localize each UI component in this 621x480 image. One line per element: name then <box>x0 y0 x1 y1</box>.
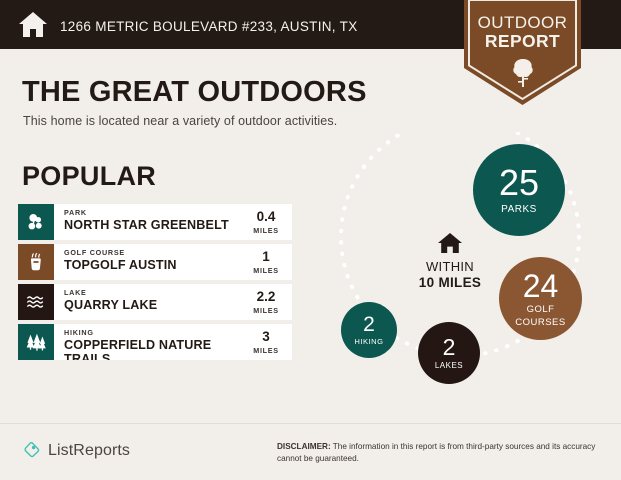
badge-line-1: OUTDOOR <box>464 14 581 32</box>
listreports-logo[interactable]: ListReports <box>22 441 130 460</box>
badge-title: OUTDOOR REPORT <box>464 14 581 50</box>
golf-courses-count: 24 <box>523 270 559 302</box>
outdoor-report-badge: OUTDOOR REPORT <box>464 0 581 105</box>
popular-heading: POPULAR <box>22 161 156 192</box>
list-item[interactable]: HIKING COPPERFIELD NATURE TRAILS 3 MILES <box>18 324 292 360</box>
distance-value: 2.2 <box>240 290 292 304</box>
popular-list: PARK NORTH STAR GREENBELT 0.4 MILES GOLF… <box>18 204 292 364</box>
list-item-category: PARK <box>64 209 240 216</box>
list-item-name: COPPERFIELD NATURE TRAILS <box>64 338 240 360</box>
list-item-distance: 1 MILES <box>240 244 292 280</box>
hiking-count: 2 <box>363 314 375 335</box>
list-item-name: NORTH STAR GREENBELT <box>64 218 240 232</box>
center-line-2: 10 MILES <box>390 275 510 291</box>
list-item-category: HIKING <box>64 329 240 336</box>
pine-trees-icon <box>18 324 54 360</box>
distance-value: 0.4 <box>240 210 292 224</box>
listreports-wordmark: ListReports <box>48 442 130 460</box>
parks-count: 25 <box>499 165 539 201</box>
distance-unit: MILES <box>240 226 292 235</box>
page-subtitle: This home is located near a variety of o… <box>23 114 337 128</box>
outdoor-report-page: 1266 METRIC BOULEVARD #233, AUSTIN, TX O… <box>0 0 621 480</box>
list-item-category: GOLF COURSE <box>64 249 240 256</box>
page-title: THE GREAT OUTDOORS <box>22 76 367 109</box>
lakes-label: LAKES <box>435 362 463 370</box>
tree-icon <box>512 58 534 88</box>
list-item-text: PARK NORTH STAR GREENBELT <box>54 204 240 240</box>
golf-courses-label-line-2: COURSES <box>515 318 565 328</box>
list-item-distance: 2.2 MILES <box>240 284 292 320</box>
list-item-name: QUARRY LAKE <box>64 298 240 312</box>
stat-circle-hiking[interactable]: 2 HIKING <box>341 302 397 358</box>
list-item-name: TOPGOLF AUSTIN <box>64 258 240 272</box>
distance-unit: MILES <box>240 306 292 315</box>
within-10-miles-diagram: WITHIN 10 MILES 25 PARKS 24 GOLF COURSES… <box>320 132 600 402</box>
parks-label: PARKS <box>501 205 537 216</box>
list-item-text: HIKING COPPERFIELD NATURE TRAILS <box>54 324 240 360</box>
list-item[interactable]: PARK NORTH STAR GREENBELT 0.4 MILES <box>18 204 292 240</box>
distance-value: 1 <box>240 250 292 264</box>
list-item-distance: 0.4 MILES <box>240 204 292 240</box>
list-item-text: LAKE QUARRY LAKE <box>54 284 240 320</box>
disclaimer: DISCLAIMER: The information in this repo… <box>277 441 605 465</box>
listreports-tag-icon <box>22 441 41 460</box>
golf-bag-icon <box>18 244 54 280</box>
water-waves-icon <box>18 284 54 320</box>
distance-value: 3 <box>240 330 292 344</box>
property-address: 1266 METRIC BOULEVARD #233, AUSTIN, TX <box>60 19 358 34</box>
home-icon <box>437 232 463 254</box>
stat-circle-lakes[interactable]: 2 LAKES <box>418 322 480 384</box>
badge-line-2: REPORT <box>464 32 581 50</box>
list-item-text: GOLF COURSE TOPGOLF AUSTIN <box>54 244 240 280</box>
park-bushes-icon <box>18 204 54 240</box>
footer-divider <box>0 423 621 424</box>
hiking-label: HIKING <box>354 338 383 346</box>
distance-unit: MILES <box>240 346 292 355</box>
distance-unit: MILES <box>240 266 292 275</box>
stat-circle-parks[interactable]: 25 PARKS <box>473 144 565 236</box>
list-item[interactable]: GOLF COURSE TOPGOLF AUSTIN 1 MILES <box>18 244 292 280</box>
list-item[interactable]: LAKE QUARRY LAKE 2.2 MILES <box>18 284 292 320</box>
home-icon <box>18 11 48 38</box>
list-item-distance: 3 MILES <box>240 324 292 360</box>
disclaimer-label: DISCLAIMER: <box>277 442 331 451</box>
golf-courses-label-line-1: GOLF <box>527 305 555 315</box>
lakes-count: 2 <box>443 336 456 359</box>
list-item-category: LAKE <box>64 289 240 296</box>
center-line-1: WITHIN <box>390 260 510 275</box>
stat-circle-golf-courses[interactable]: 24 GOLF COURSES <box>499 257 582 340</box>
diagram-center-label: WITHIN 10 MILES <box>390 232 510 290</box>
